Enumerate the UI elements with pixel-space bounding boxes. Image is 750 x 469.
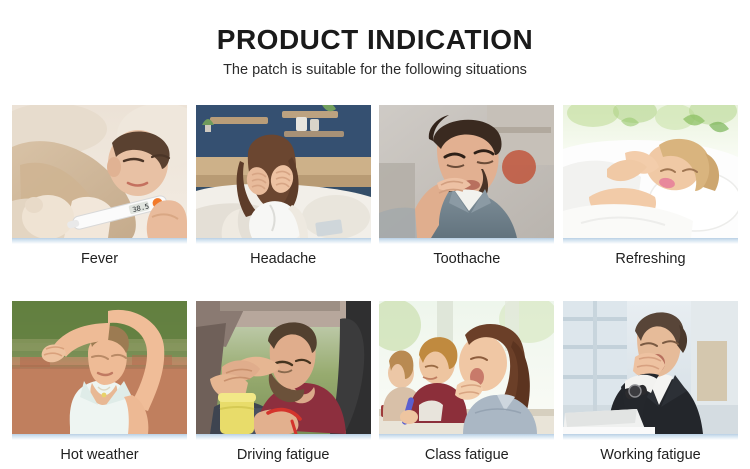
photo-reflection [563,434,738,440]
indication-row-1: 38.5 Fever [12,105,738,267]
woman-sleeping-on-white-pillow-photo [563,105,738,238]
indication-label: Driving fatigue [237,448,330,463]
indication-cell-refreshing[interactable]: Refreshing [563,105,738,267]
indication-label: Toothache [433,252,500,267]
indication-cell-toothache[interactable]: Toothache [379,105,554,267]
photo-reflection [12,434,187,440]
photo-reflection [563,238,738,244]
page-header: PRODUCT INDICATION The patch is suitable… [0,0,750,78]
indication-cell-hot-weather[interactable]: Hot weather [12,301,187,463]
indication-label: Hot weather [60,448,138,463]
man-holding-jaw-toothache-photo [379,105,554,238]
woman-holding-head-on-bed-photo [196,105,371,238]
photo-reflection [379,434,554,440]
photo-wrap-toothache [379,105,554,238]
photo-wrap-refreshing [563,105,738,238]
indication-label: Refreshing [615,252,685,267]
indication-cell-driving-fatigue[interactable]: Driving fatigue [196,301,371,463]
indication-label: Fever [81,252,118,267]
photo-reflection [12,238,187,244]
page-title: PRODUCT INDICATION [0,26,750,54]
photo-wrap-fever: 38.5 [12,105,187,238]
indication-row-2: Hot weather [12,301,738,463]
indication-label: Working fatigue [600,448,700,463]
photo-wrap-class-fatigue [379,301,554,434]
photo-wrap-working-fatigue [563,301,738,434]
indication-cell-headache[interactable]: Headache [196,105,371,267]
businessman-yawning-at-laptop-photo [563,301,738,434]
indication-cell-fever[interactable]: 38.5 Fever [12,105,187,267]
man-asleep-on-steering-wheel-photo [196,301,371,434]
page-subtitle: The patch is suitable for the following … [0,63,750,78]
students-yawning-in-classroom-photo [379,301,554,434]
indication-cell-working-fatigue[interactable]: Working fatigue [563,301,738,463]
photo-reflection [196,434,371,440]
photo-reflection [196,238,371,244]
photo-wrap-driving-fatigue [196,301,371,434]
photo-wrap-hot-weather [12,301,187,434]
indication-cell-class-fatigue[interactable]: Class fatigue [379,301,554,463]
indication-label: Class fatigue [425,448,509,463]
indication-grid: 38.5 Fever [12,105,738,463]
child-in-bed-with-thermometer-photo: 38.5 [12,105,187,238]
photo-reflection [379,238,554,244]
woman-wiping-forehead-outdoors-photo [12,301,187,434]
indication-label: Headache [250,252,316,267]
photo-wrap-headache [196,105,371,238]
